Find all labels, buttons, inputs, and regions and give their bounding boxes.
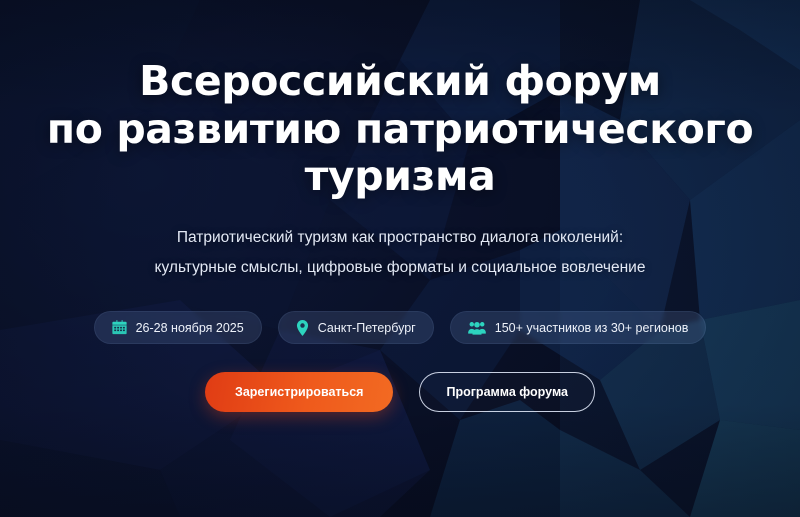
info-pill-date: 26-28 ноября 2025 bbox=[94, 311, 262, 344]
title-line: по развитию патриотического bbox=[47, 106, 753, 154]
info-pill-location-label: Санкт-Петербург bbox=[318, 321, 416, 335]
info-pill-date-label: 26-28 ноября 2025 bbox=[136, 321, 244, 335]
calendar-icon bbox=[112, 320, 127, 335]
location-pin-icon bbox=[296, 320, 309, 336]
register-button[interactable]: Зарегистрироваться bbox=[205, 372, 393, 412]
info-pill-participants: 150+ участников из 30+ регионов bbox=[450, 311, 707, 344]
subtitle-line: Патриотический туризм как пространство д… bbox=[155, 223, 646, 253]
info-pill-location: Санкт-Петербург bbox=[278, 311, 434, 344]
subtitle-line: культурные смыслы, цифровые форматы и со… bbox=[155, 253, 646, 283]
info-pill-row: 26-28 ноября 2025 Санкт-Петербург bbox=[94, 311, 707, 344]
title-line: туризма bbox=[47, 153, 753, 201]
title-line: Всероссийский форум bbox=[47, 58, 753, 106]
page-title: Всероссийский форум по развитию патриоти… bbox=[47, 58, 753, 201]
hero-banner: Всероссийский форум по развитию патриоти… bbox=[0, 0, 800, 517]
info-pill-participants-label: 150+ участников из 30+ регионов bbox=[495, 321, 689, 335]
program-button[interactable]: Программа форума bbox=[419, 372, 595, 412]
hero-content: Всероссийский форум по развитию патриоти… bbox=[0, 0, 800, 517]
page-subtitle: Патриотический туризм как пространство д… bbox=[155, 223, 646, 283]
people-group-icon bbox=[468, 321, 486, 335]
hero-action-row: Зарегистрироваться Программа форума bbox=[205, 372, 595, 412]
